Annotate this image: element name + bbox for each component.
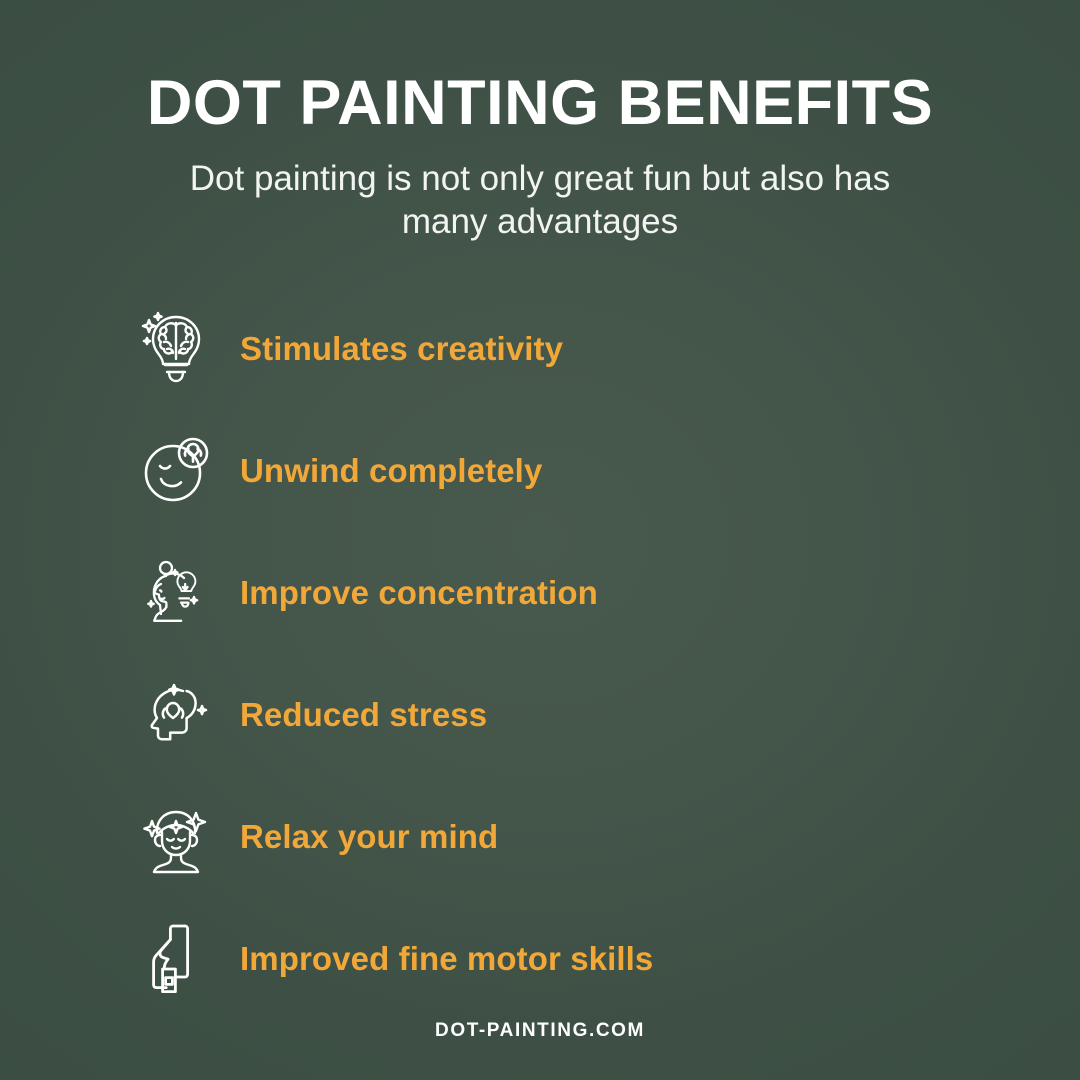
benefit-item: Stimulates creativity bbox=[138, 288, 563, 410]
calm-face-sparkles-icon bbox=[138, 795, 214, 879]
benefit-label: Stimulates creativity bbox=[240, 330, 563, 368]
benefit-label: Improved fine motor skills bbox=[240, 940, 653, 978]
benefits-list: Stimulates creativity bbox=[0, 288, 1080, 1020]
poster-canvas: DOT PAINTING BENEFITS Dot painting is no… bbox=[0, 0, 1080, 1080]
lightbulb-brain-icon bbox=[138, 307, 214, 391]
benefit-item: Relax your mind bbox=[138, 776, 498, 898]
smiley-flower-icon bbox=[138, 429, 214, 513]
benefit-item: Reduced stress bbox=[138, 654, 487, 776]
benefit-item: Improve concentration bbox=[138, 532, 598, 654]
benefit-label: Improve concentration bbox=[240, 574, 598, 612]
benefit-label: Reduced stress bbox=[240, 696, 487, 734]
hand-dotting-tool-icon bbox=[138, 917, 214, 1001]
head-profile-bulb-icon bbox=[138, 551, 214, 635]
benefit-label: Relax your mind bbox=[240, 818, 498, 856]
benefit-label: Unwind completely bbox=[240, 452, 542, 490]
benefit-item: Improved fine motor skills bbox=[138, 898, 653, 1020]
page-title: DOT PAINTING BENEFITS bbox=[147, 72, 933, 135]
page-subtitle: Dot painting is not only great fun but a… bbox=[145, 157, 935, 244]
benefit-item: Unwind completely bbox=[138, 410, 542, 532]
head-lotus-icon bbox=[138, 673, 214, 757]
footer-website[interactable]: DOT-PAINTING.COM bbox=[0, 1020, 1080, 1042]
